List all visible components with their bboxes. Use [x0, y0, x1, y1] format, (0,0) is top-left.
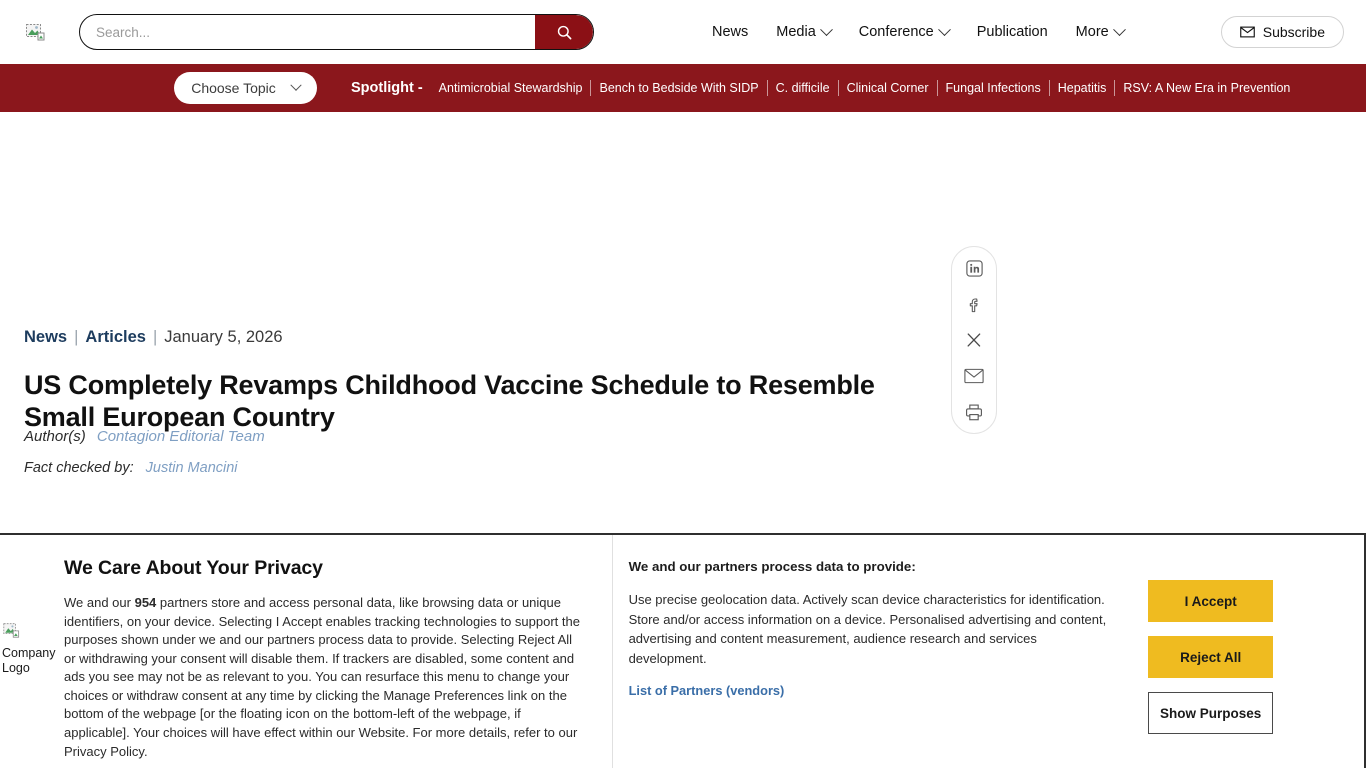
site-logo-broken-image-icon[interactable]: [24, 21, 46, 43]
privacy-purposes-column: We and our partners process data to prov…: [613, 535, 1149, 768]
privacy-body: We and our 954 partners store and access…: [64, 594, 582, 761]
choose-topic-dropdown[interactable]: Choose Topic: [174, 72, 317, 104]
spotlight-bar: Choose Topic Spotlight - Antimicrobial S…: [0, 64, 1366, 112]
privacy-logo-alt-text: Company Logo: [2, 646, 56, 676]
breadcrumb-category-news[interactable]: News: [24, 328, 67, 347]
search-bar[interactable]: [79, 14, 594, 50]
privacy-purposes-text: Use precise geolocation data. Actively s…: [629, 590, 1109, 668]
list-of-partners-link[interactable]: List of Partners (vendors): [629, 683, 785, 698]
page-title: US Completely Revamps Childhood Vaccine …: [24, 369, 904, 433]
search-icon: [556, 24, 573, 41]
facebook-icon[interactable]: [962, 292, 986, 316]
breadcrumb-category-articles[interactable]: Articles: [85, 328, 146, 347]
subscribe-label: Subscribe: [1263, 24, 1325, 40]
nav-label: Conference: [859, 24, 934, 40]
spotlight-topic-clinical-corner[interactable]: Clinical Corner: [839, 80, 937, 96]
spotlight-topic-fungal-infections[interactable]: Fungal Infections: [938, 80, 1049, 96]
privacy-title: We Care About Your Privacy: [64, 557, 582, 580]
reject-all-button[interactable]: Reject All: [1148, 636, 1273, 678]
linkedin-icon[interactable]: [962, 256, 986, 280]
nav-item-more[interactable]: More: [1062, 24, 1138, 40]
author-link[interactable]: Contagion Editorial Team: [97, 428, 265, 445]
nav-label: Media: [776, 24, 816, 40]
chevron-down-icon: [290, 80, 301, 91]
breadcrumb: News | Articles | January 5, 2026: [24, 328, 283, 347]
spotlight-topic-c-difficile[interactable]: C. difficile: [768, 80, 838, 96]
broken-image-icon: [2, 621, 62, 644]
chevron-down-icon: [938, 23, 951, 36]
privacy-body-before: We and our: [64, 595, 135, 610]
factcheck-label: Fact checked by:: [24, 460, 134, 476]
envelope-icon: [1240, 26, 1255, 38]
main-navigation: News Media Conference Publication More: [712, 0, 1138, 64]
privacy-partner-count: 954: [135, 595, 157, 610]
privacy-left-column: We Care About Your Privacy We and our 95…: [0, 535, 613, 768]
privacy-purposes-heading: We and our partners process data to prov…: [629, 559, 1109, 574]
spotlight-topic-bench-to-bedside-with-sidp[interactable]: Bench to Bedside With SIDP: [591, 80, 766, 96]
chevron-down-icon: [820, 23, 833, 36]
nav-item-news[interactable]: News: [712, 24, 762, 40]
print-icon[interactable]: [962, 400, 986, 424]
accept-button[interactable]: I Accept: [1148, 580, 1273, 622]
spotlight-topic-list: Antimicrobial Stewardship Bench to Bedsi…: [431, 80, 1299, 96]
article-date: January 5, 2026: [164, 328, 282, 347]
subscribe-button[interactable]: Subscribe: [1221, 16, 1344, 48]
nav-label: Publication: [977, 24, 1048, 40]
site-header: News Media Conference Publication More S…: [0, 0, 1366, 64]
search-input[interactable]: [80, 15, 535, 49]
privacy-consent-banner: Company Logo We Care About Your Privacy …: [0, 533, 1366, 768]
privacy-company-logo-broken-image: Company Logo: [2, 621, 62, 677]
spotlight-topic-rsv-a-new-era-in-prevention[interactable]: RSV: A New Era in Prevention: [1115, 80, 1298, 96]
spotlight-label: Spotlight -: [351, 80, 423, 96]
breadcrumb-separator: |: [67, 328, 85, 347]
factchecker-link[interactable]: Justin Mancini: [146, 460, 238, 476]
search-submit-button[interactable]: [535, 15, 593, 49]
spotlight-topic-hepatitis[interactable]: Hepatitis: [1050, 80, 1115, 96]
chevron-down-icon: [1113, 23, 1126, 36]
privacy-actions: I Accept Reject All Show Purposes: [1148, 535, 1364, 768]
breadcrumb-separator: |: [146, 328, 164, 347]
nav-item-media[interactable]: Media: [762, 24, 845, 40]
show-purposes-button[interactable]: Show Purposes: [1148, 692, 1273, 734]
spotlight-topic-antimicrobial-stewardship[interactable]: Antimicrobial Stewardship: [431, 80, 591, 96]
article-byline: Author(s) Contagion Editorial Team: [24, 428, 265, 445]
choose-topic-label: Choose Topic: [191, 80, 276, 96]
nav-item-conference[interactable]: Conference: [845, 24, 963, 40]
article-factcheck: Fact checked by: Justin Mancini: [24, 460, 238, 476]
nav-label: More: [1076, 24, 1109, 40]
x-twitter-icon[interactable]: [962, 328, 986, 352]
privacy-body-after: partners store and access personal data,…: [64, 595, 580, 759]
nav-item-publication[interactable]: Publication: [963, 24, 1062, 40]
email-icon[interactable]: [962, 364, 986, 388]
nav-label: News: [712, 24, 748, 40]
author-label: Author(s): [24, 428, 86, 445]
social-share-rail: [951, 246, 997, 434]
